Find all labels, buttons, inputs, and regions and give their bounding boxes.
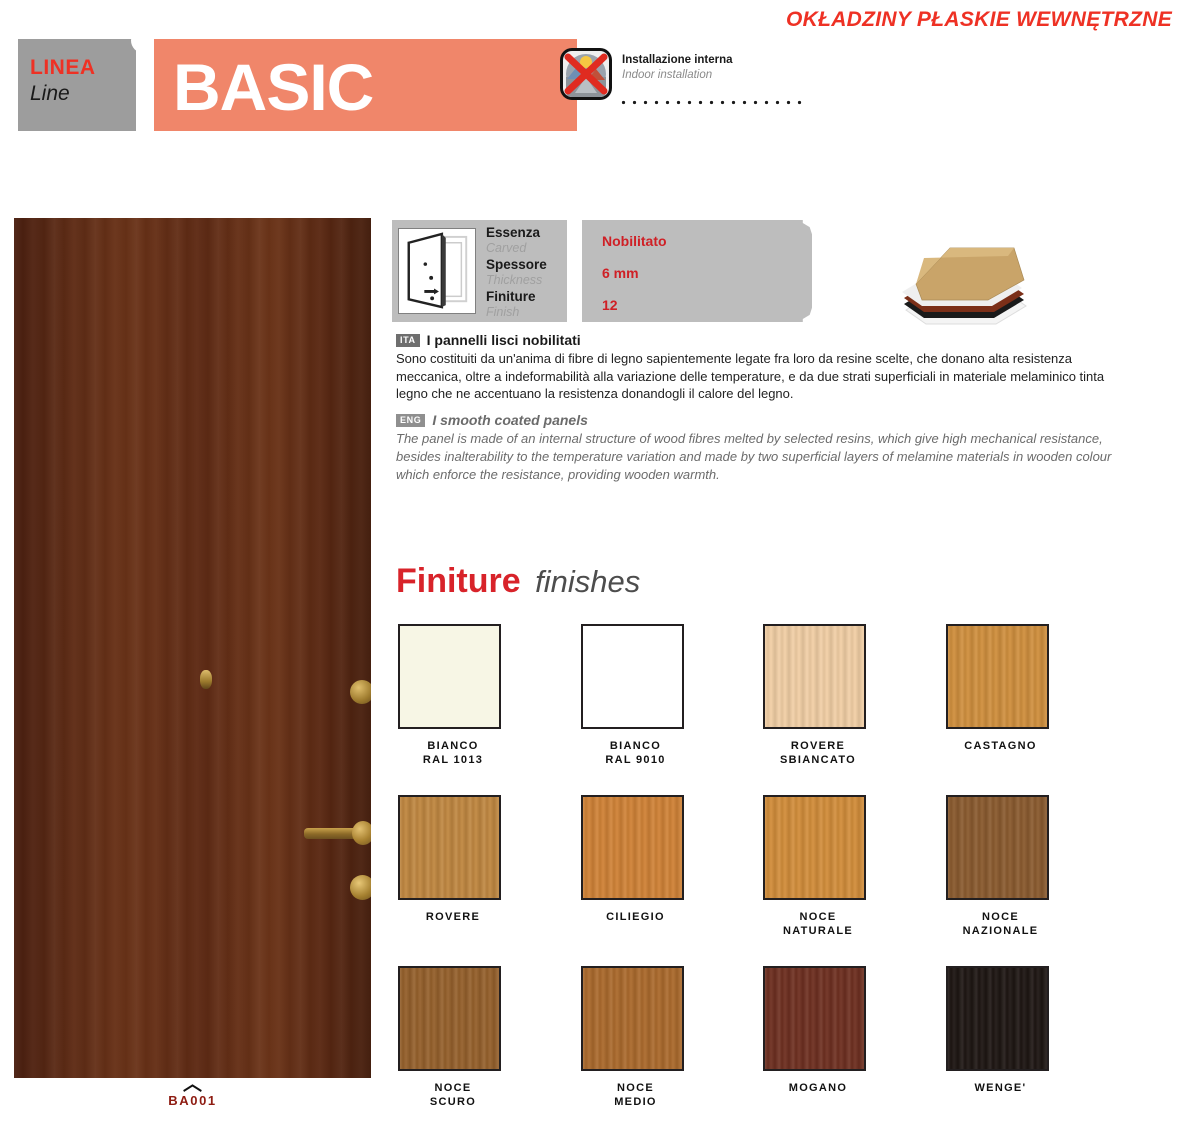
- swatch-label-line2: SCURO: [398, 1095, 508, 1109]
- swatch-label-line1: MOGANO: [763, 1081, 873, 1095]
- open-door-glyph: [399, 229, 475, 313]
- spec-row: Finiture Finish :: [486, 289, 547, 321]
- swatch-row: ROVERE CILIEGIO NOCE NATURALE NOCE NAZIO…: [398, 795, 1128, 966]
- linea-label-it: LINEA: [30, 55, 136, 80]
- swatch-color-noce-medio[interactable]: [581, 966, 684, 1071]
- swatch-color-noce-naturale[interactable]: [763, 795, 866, 900]
- swatch-label: ROVERE SBIANCATO: [763, 739, 873, 767]
- notch-circle-decoration: [131, 28, 156, 53]
- dotted-divider: [618, 100, 804, 105]
- swatch-item[interactable]: NOCE SCURO: [398, 966, 581, 1126]
- door-handle-rose-icon: [352, 821, 371, 845]
- swatch-label-line1: BIANCO: [398, 739, 508, 753]
- swatch-item[interactable]: BIANCO RAL 1013: [398, 624, 581, 795]
- installation-label-en: Indoor installation: [622, 68, 733, 83]
- swatch-color-rovere[interactable]: [398, 795, 501, 900]
- swatch-item[interactable]: CASTAGNO: [946, 624, 1129, 795]
- description-eng-heading: ENG I smooth coated panels: [396, 412, 1126, 428]
- swatch-label: CILIEGIO: [581, 910, 691, 924]
- swatch-label: CASTAGNO: [946, 739, 1056, 753]
- swatch-color-bianco-ral-1013[interactable]: [398, 624, 501, 729]
- spec-label-en: Finish: [486, 305, 547, 320]
- indoor-installation-glyph: [563, 51, 609, 97]
- swatch-item[interactable]: NOCE NAZIONALE: [946, 795, 1129, 966]
- swatch-label-line1: CASTAGNO: [946, 739, 1056, 753]
- swatch-label: NOCE SCURO: [398, 1081, 508, 1109]
- swatch-label-line1: NOCE: [398, 1081, 508, 1095]
- swatch-label-line2: NAZIONALE: [946, 924, 1056, 938]
- product-name-box: BASIC: [154, 39, 577, 131]
- swatch-label-line1: NOCE: [946, 910, 1056, 924]
- finish-swatch-grid: BIANCO RAL 1013 BIANCO RAL 9010 ROVERE S…: [398, 624, 1128, 1126]
- language-badge-eng: ENG: [396, 414, 425, 427]
- finishes-heading-en: finishes: [535, 564, 640, 599]
- description-ita-heading: ITA I pannelli lisci nobilitati: [396, 332, 1126, 348]
- swatch-label-line2: MEDIO: [581, 1095, 691, 1109]
- spec-value-essenza: Nobilitato: [602, 230, 667, 262]
- swatch-item[interactable]: BIANCO RAL 9010: [581, 624, 764, 795]
- swatch-label: MOGANO: [763, 1081, 873, 1095]
- spec-row: Spessore Thickness :: [486, 257, 547, 289]
- swatch-item[interactable]: NOCE MEDIO: [581, 966, 764, 1126]
- spec-label-it: Finiture: [486, 289, 547, 305]
- swatch-label-line2: NATURALE: [763, 924, 873, 938]
- spec-label-it: Essenza: [486, 225, 547, 241]
- swatch-color-noce-scuro[interactable]: [398, 966, 501, 1071]
- swatch-label: BIANCO RAL 1013: [398, 739, 508, 767]
- caret-up-icon: ︿: [14, 1078, 371, 1092]
- swatch-label-line2: SBIANCATO: [763, 753, 873, 767]
- finishes-heading-it: Finiture: [396, 562, 521, 600]
- swatch-label-line2: RAL 1013: [398, 753, 508, 767]
- swatch-label-line1: CILIEGIO: [581, 910, 691, 924]
- swatch-item[interactable]: MOGANO: [763, 966, 946, 1126]
- spec-value-finiture: 12: [602, 294, 667, 326]
- swatch-row: NOCE SCURO NOCE MEDIO MOGANO WENGE': [398, 966, 1128, 1126]
- installation-badge: Installazione interna Indoor installatio…: [560, 48, 760, 110]
- swatch-label: ROVERE: [398, 910, 508, 924]
- swatch-label-line1: BIANCO: [581, 739, 691, 753]
- description-eng: ENG I smooth coated panels The panel is …: [396, 412, 1126, 484]
- finishes-heading: Finiture finishes: [396, 562, 640, 601]
- spec-value-spessore: 6 mm: [602, 262, 667, 294]
- door-cylinder-icon: [350, 680, 371, 704]
- swatch-item[interactable]: CILIEGIO: [581, 795, 764, 966]
- swatch-label-line2: RAL 9010: [581, 753, 691, 767]
- swatch-label-line1: NOCE: [581, 1081, 691, 1095]
- swatch-color-castagno[interactable]: [946, 624, 1049, 729]
- swatch-label: WENGE': [946, 1081, 1056, 1095]
- spec-label-it: Spessore: [486, 257, 547, 273]
- description-eng-body: The panel is made of an internal structu…: [396, 430, 1126, 484]
- description-ita-title: I pannelli lisci nobilitati: [427, 332, 581, 348]
- specification-values-panel: Nobilitato 6 mm 12: [582, 220, 812, 322]
- description-eng-title: I smooth coated panels: [432, 412, 588, 428]
- specification-panel: Essenza Carved : Spessore Thickness : Fi…: [392, 220, 812, 322]
- specification-labels-panel: Essenza Carved : Spessore Thickness : Fi…: [392, 220, 567, 322]
- door-peephole-icon: [200, 670, 212, 689]
- spec-value-column: Nobilitato 6 mm 12: [602, 230, 667, 326]
- swatch-color-wenge[interactable]: [946, 966, 1049, 1071]
- language-badge-ita: ITA: [396, 334, 420, 347]
- swatch-color-ciliegio[interactable]: [581, 795, 684, 900]
- installation-label-it: Installazione interna: [622, 53, 733, 68]
- installation-labels: Installazione interna Indoor installatio…: [622, 53, 733, 83]
- description-ita: ITA I pannelli lisci nobilitati Sono cos…: [396, 332, 1126, 403]
- swatch-color-rovere-sbiancato[interactable]: [763, 624, 866, 729]
- spec-label-en: Carved: [486, 241, 547, 256]
- product-code: BA001: [14, 1092, 371, 1110]
- panel-stack-glyph: [888, 236, 1028, 326]
- swatch-item[interactable]: NOCE NATURALE: [763, 795, 946, 966]
- swatch-label-line1: WENGE': [946, 1081, 1056, 1095]
- swatch-label-line1: ROVERE: [398, 910, 508, 924]
- swatch-label: NOCE NATURALE: [763, 910, 873, 938]
- page-title-polish: OKŁADZINY PŁASKIE WEWNĘTRZNE: [786, 8, 1172, 32]
- swatch-color-noce-nazionale[interactable]: [946, 795, 1049, 900]
- panel-samples-stack: [888, 236, 1028, 326]
- door-photo: [14, 218, 371, 1078]
- page-title: BASIC: [173, 43, 373, 131]
- open-door-icon: [398, 228, 476, 314]
- door-lock-icon: [350, 875, 371, 900]
- swatch-label: NOCE MEDIO: [581, 1081, 691, 1109]
- swatch-label: NOCE NAZIONALE: [946, 910, 1056, 938]
- indoor-installation-icon: [560, 48, 612, 100]
- swatch-color-mogano[interactable]: [763, 966, 866, 1071]
- swatch-color-bianco-ral-9010[interactable]: [581, 624, 684, 729]
- swatch-row: BIANCO RAL 1013 BIANCO RAL 9010 ROVERE S…: [398, 624, 1128, 795]
- spec-row: Essenza Carved :: [486, 225, 547, 257]
- swatch-item[interactable]: WENGE': [946, 966, 1129, 1126]
- description-ita-body: Sono costituiti da un'anima di fibre di …: [396, 350, 1126, 403]
- swatch-item[interactable]: ROVERE: [398, 795, 581, 966]
- swatch-label-line1: NOCE: [763, 910, 873, 924]
- spec-label-en: Thickness: [486, 273, 547, 288]
- swatch-label: BIANCO RAL 9010: [581, 739, 691, 767]
- linea-box: LINEA Line: [18, 39, 136, 131]
- linea-label-en: Line: [30, 80, 136, 107]
- swatch-label-line1: ROVERE: [763, 739, 873, 753]
- swatch-item[interactable]: ROVERE SBIANCATO: [763, 624, 946, 795]
- spec-label-column: Essenza Carved : Spessore Thickness : Fi…: [486, 225, 547, 321]
- product-code-caption: ︿ BA001: [14, 1078, 371, 1110]
